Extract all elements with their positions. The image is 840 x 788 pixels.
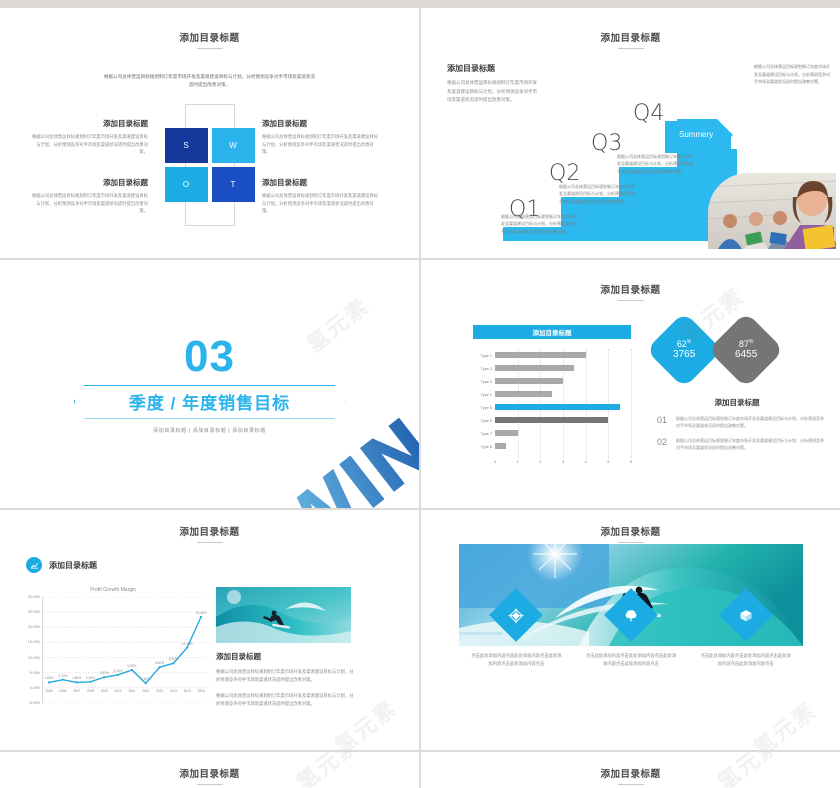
stat-badge-inner: 62% 3765 <box>673 339 695 361</box>
line-chart-point <box>186 646 188 648</box>
stat-percent-value: 62 <box>677 339 687 349</box>
step-note-q1: 根据公司总体营运目标规划制订年度市场开发及渠道建设目标与计划，分析预测竞争对手市… <box>501 213 579 235</box>
line-chart-body: Profit Growth Margin -5.00%0.00%5.00%10.… <box>0 581 419 741</box>
cube-icon-glyph <box>738 608 753 623</box>
line-chart-data-label: 23.40% <box>196 611 207 615</box>
line-chart-x-tick: 2007 <box>73 689 80 693</box>
bar-chart-body: 添加目录标题 Type 1Type 2Type 3Type 4Type 5Typ… <box>421 301 840 501</box>
slide-photo-icons[interactable]: 添加目录标题 <box>421 510 840 750</box>
page-title: 添加目录标题 <box>0 752 419 780</box>
line-chart-data-label: 4.30% <box>114 669 123 673</box>
swot-cell-w[interactable]: W <box>212 128 255 163</box>
line-chart-point <box>89 681 91 683</box>
cube-icon <box>738 608 753 623</box>
bar-track <box>495 362 631 375</box>
line-chart-y-tick: 10.00% <box>28 656 40 660</box>
surfing-photo-graphic <box>216 587 351 643</box>
top-gutter <box>0 0 840 8</box>
line-chart-header: 添加目录标题 <box>26 557 419 573</box>
swot-heading: 添加目录标题 <box>28 118 148 129</box>
intro-paragraph: 根据公司总体营运目标规划制订年度市场开发及渠道建设目标与计划，分析预测竞争对手市… <box>102 73 317 90</box>
bar-label: Type 3 <box>473 380 495 384</box>
bar-label: Type 5 <box>473 406 495 410</box>
bar-fill <box>495 443 506 449</box>
bar-track <box>495 388 631 401</box>
caption-paragraph-2: 根据公司总体营运目标规划制订年度市场开发及渠道建设目标与计划，分析预测竞争对手市… <box>216 692 356 709</box>
feature-texts: 点击此处添加内容点击此处添加内容点击此处添加内容点击此处添加内容点击 点击此处添… <box>459 652 803 669</box>
swot-text-top-left: 添加目录标题 根据公司总体营运目标规划制订年度市场开发及渠道建设目标与计划，分析… <box>28 118 148 156</box>
list-item: 02 根据公司总体营运目标规划制订年度市场开发及渠道建设目标与计划，分析预测竞争… <box>657 437 825 452</box>
section-ribbon: 季度 / 年度销售目标 <box>74 385 346 419</box>
line-chart-data-label: 5.90% <box>127 664 136 668</box>
line-chart-data-label: 2.00% <box>86 676 95 680</box>
bar-row: Type 1 <box>473 349 631 362</box>
left-body: 根据公司总体营运目标规划制订年度市场开发及渠道建设目标与计划，分析预测竞争对手市… <box>447 79 539 105</box>
slide-section-divider[interactable]: 03 季度 / 年度销售目标 添加目录标题 | 添加目录标题 | 添加目录标题 … <box>0 260 419 508</box>
surfing-photo-small <box>216 587 351 643</box>
line-chart-x-tick: 2012 <box>142 689 149 693</box>
slide-line-chart[interactable]: 添加目录标题 添加目录标题 Profit Growth Margin -5.00… <box>0 510 419 750</box>
stat-badge-blue[interactable]: 62% 3765 <box>646 312 722 388</box>
list-item: 01 根据公司总体营运目标规划制订年度市场开发及渠道建设目标与计划，分析预测竞争… <box>657 415 825 430</box>
chart-banner: 添加目录标题 <box>473 325 631 339</box>
swot-text-bottom-right: 添加目录标题 根据公司总体营运目标规划制订年度市场开发及渠道建设目标与计划，分析… <box>262 177 382 215</box>
line-chart-y-tick: 0.00% <box>30 686 40 690</box>
line-chart-x-tick: 2005 <box>45 689 52 693</box>
bar-row: Type 5 <box>473 401 631 414</box>
bar-track <box>495 349 631 362</box>
line-chart-y-tick: 20.00% <box>28 625 40 629</box>
bar-chart-x-axis: 0123456 <box>495 460 631 470</box>
step-label-q4: Q4 <box>633 101 664 126</box>
percent-sign: % <box>749 339 753 345</box>
step-note-q3: 根据公司总体营运目标规划制订年度市场开发及渠道建设目标与计划，分析预测竞争对手市… <box>617 153 695 175</box>
bar-chart: Type 1Type 2Type 3Type 4Type 5Type 6Type… <box>473 349 631 469</box>
swot-cell-s[interactable]: S <box>165 128 208 163</box>
line-chart-x-tick: 2013 <box>156 689 163 693</box>
compass-icon <box>509 608 524 623</box>
stat-percent: 62% <box>673 339 695 349</box>
stat-value: 3765 <box>673 349 695 361</box>
stat-percent-value: 87 <box>739 339 749 349</box>
line-chart-data-label: 6.80% <box>155 661 164 665</box>
line-chart-point <box>158 666 160 668</box>
staircase-body: 添加目录标题 根据公司总体营运目标规划制订年度市场开发及渠道建设目标与计划，分析… <box>421 49 840 249</box>
bar-chart-rows: Type 1Type 2Type 3Type 4Type 5Type 6Type… <box>473 349 631 453</box>
subitem-2: 添加目录标题 <box>193 428 227 434</box>
line-chart-data-label: 13.30% <box>182 642 193 646</box>
bar-label: Type 6 <box>473 419 495 423</box>
stat-badge-inner: 87% 6455 <box>735 339 757 361</box>
line-chart-x-tick: 2011 <box>128 689 135 693</box>
line-chart-point <box>76 681 78 683</box>
line-chart-svg <box>43 597 209 703</box>
stats-sub-heading: 添加目录标题 <box>657 397 817 408</box>
line-chart-x-tick: 2006 <box>59 689 66 693</box>
bar-x-tick: 0 <box>494 460 496 464</box>
bar-fill <box>495 404 620 410</box>
bar-track <box>495 375 631 388</box>
section-number: 03 <box>184 335 235 379</box>
list-item-body: 根据公司总体营运目标规划制订年度市场开发及渠道建设目标与计划，分析预测竞争对手市… <box>676 437 825 452</box>
title-rule <box>197 784 223 785</box>
title-rule <box>618 542 644 543</box>
feature-icon-cube[interactable] <box>719 588 773 642</box>
swot-body-text: 根据公司总体营运目标规划制订年度市场开发及渠道建设目标与计划，分析预测竞争对手市… <box>262 133 382 156</box>
swot-heading: 添加目录标题 <box>28 177 148 188</box>
feature-text-1: 点击此处添加内容点击此处添加内容点击此处添加内容点击此处添加内容点击 <box>459 652 574 669</box>
bar-track <box>495 401 631 414</box>
bar-track <box>495 440 631 453</box>
swot-body-text: 根据公司总体营运目标规划制订年度市场开发及渠道建设目标与计划，分析预测竞争对手市… <box>28 133 148 156</box>
swot-cell-t[interactable]: T <box>212 167 255 202</box>
line-chart-y-tick: 15.00% <box>28 640 40 644</box>
line-chart-point <box>172 662 174 664</box>
bar-row: Type 8 <box>473 440 631 453</box>
bar-x-tick: 2 <box>539 460 541 464</box>
subitem-3: 添加目录标题 <box>232 428 266 434</box>
bar-row: Type 2 <box>473 362 631 375</box>
slide-swot[interactable]: 添加目录标题 根据公司总体营运目标规划制订年度市场开发及渠道建设目标与计划，分析… <box>0 8 419 258</box>
slide-partial-right[interactable]: 添加目录标题 氢元素 <box>421 752 840 788</box>
list-item-number: 02 <box>657 437 670 452</box>
watermark: 氢元素 <box>746 693 822 750</box>
percent-sign: % <box>687 339 691 345</box>
slide-staircase[interactable]: 添加目录标题 <box>421 8 840 258</box>
line-chart-x-tick: 2008 <box>87 689 94 693</box>
page-title: 添加目录标题 <box>421 260 840 296</box>
swot-body-text: 根据公司总体营运目标规划制订年度市场开发及渠道建设目标与计划，分析预测竞争对手市… <box>262 192 382 215</box>
page-title: 添加目录标题 <box>0 510 419 538</box>
title-rule <box>618 784 644 785</box>
line-chart-point <box>117 674 119 676</box>
page-title: 添加目录标题 <box>421 752 840 780</box>
slide-deck-grid: 添加目录标题 根据公司总体营运目标规划制订年度市场开发及渠道建设目标与计划，分析… <box>0 0 840 788</box>
line-chart-heading: 添加目录标题 <box>49 560 97 571</box>
line-chart-y-tick: -5.00% <box>29 701 40 705</box>
bar-label: Type 2 <box>473 367 495 371</box>
line-chart-x-tick: 2015 <box>184 689 191 693</box>
page-title: 添加目录标题 <box>421 8 840 44</box>
bar-row: Type 3 <box>473 375 631 388</box>
line-chart-data-label: 1.50% <box>141 677 150 681</box>
swot-heading: 添加目录标题 <box>262 177 382 188</box>
feature-icon-tree[interactable] <box>604 588 658 642</box>
trend-chart-icon <box>30 561 39 570</box>
bar-fill <box>495 391 552 397</box>
caption-heading: 添加目录标题 <box>216 651 356 662</box>
swot-body-text: 根据公司总体营运目标规划制订年度市场开发及渠道建设目标与计划，分析预测竞争对手市… <box>28 192 148 215</box>
line-chart-y-tick: 25.00% <box>28 610 40 614</box>
bar-label: Type 1 <box>473 354 495 358</box>
page-title: 添加目录标题 <box>421 510 840 538</box>
line-chart-x-tick: 2009 <box>101 689 108 693</box>
bar-row: Type 6 <box>473 414 631 427</box>
line-chart-data-label: 8.10% <box>169 657 178 661</box>
line-chart-point <box>131 669 133 671</box>
students-photo-graphic <box>708 173 836 249</box>
line-chart-point <box>48 681 50 683</box>
line-chart-point <box>103 676 105 678</box>
line-chart-caption: 添加目录标题 根据公司总体营运目标规划制订年度市场开发及渠道建设目标与计划，分析… <box>216 651 356 716</box>
line-chart-data-label: 1.80% <box>72 676 81 680</box>
bar-row: Type 4 <box>473 388 631 401</box>
line-chart-y-tick: 5.00% <box>30 671 40 675</box>
bar-label: Type 8 <box>473 445 495 449</box>
line-chart-x-tick: 2010 <box>115 689 122 693</box>
swot-matrix: S W O T <box>165 128 255 202</box>
swot-body: S W O T 添加目录标题 根据公司总体营运目标规划制订年度市场开发及渠道建设… <box>0 104 419 244</box>
bar-label: Type 7 <box>473 432 495 436</box>
swot-text-bottom-left: 添加目录标题 根据公司总体营运目标规划制订年度市场开发及渠道建设目标与计划，分析… <box>28 177 148 215</box>
feature-text-2: 点击此处添加内容点击此处添加内容点击此处添加内容点击此处添加内容点击 <box>574 652 689 669</box>
left-heading: 添加目录标题 <box>447 63 539 74</box>
bar-x-tick: 1 <box>517 460 519 464</box>
line-chart-point <box>145 682 147 684</box>
stat-value: 6455 <box>735 349 757 361</box>
bar-fill <box>495 417 608 423</box>
section-heading: 季度 / 年度销售目标 <box>129 389 290 414</box>
feature-text-3: 点击此处添加内容点击此处添加内容点击此处添加内容点击此处添加内容点击 <box>688 652 803 669</box>
bar-fill <box>495 378 563 384</box>
bar-track <box>495 427 631 440</box>
line-chart-x-tick: 2016 <box>197 689 204 693</box>
subitem-1: 添加目录标题 <box>153 428 187 434</box>
line-chart-y-tick: 30.00% <box>28 595 40 599</box>
swot-heading: 添加目录标题 <box>262 118 382 129</box>
bar-x-tick: 5 <box>607 460 609 464</box>
line-chart-point <box>200 616 202 618</box>
section-subitems: 添加目录标题 | 添加目录标题 | 添加目录标题 <box>153 427 266 434</box>
bar-label: Type 4 <box>473 393 495 397</box>
bar-fill <box>495 352 586 358</box>
bar-x-tick: 6 <box>630 460 632 464</box>
bar-gridline <box>631 349 632 459</box>
list-item-body: 根据公司总体营运目标规划制订年度市场开发及渠道建设目标与计划，分析预测竞争对手市… <box>676 415 825 430</box>
line-chart-title: Profit Growth Margin <box>18 587 208 593</box>
staircase-left-text: 添加目录标题 根据公司总体营运目标规划制订年度市场开发及渠道建设目标与计划，分析… <box>447 63 539 105</box>
feature-icons <box>459 596 803 634</box>
tree-icon <box>623 608 638 623</box>
line-chart-data-label: 1.80% <box>44 676 53 680</box>
numbered-list: 01 根据公司总体营运目标规划制订年度市场开发及渠道建设目标与计划，分析预测竞争… <box>657 415 825 459</box>
bar-x-tick: 4 <box>585 460 587 464</box>
line-chart-plot: -5.00%0.00%5.00%10.00%15.00%20.00%25.00%… <box>42 597 208 703</box>
stat-badges: 62% 3765 87% 6455 <box>657 323 773 377</box>
staircase-right-text: 根据公司总体营运目标规划制订年度市场开发及渠道建设目标与计划，分析预测竞争对手市… <box>754 63 830 86</box>
swot-cell-o[interactable]: O <box>165 167 208 202</box>
title-rule <box>197 542 223 543</box>
title-rule <box>197 48 223 49</box>
page-title: 添加目录标题 <box>0 8 419 44</box>
list-item-number: 01 <box>657 415 670 430</box>
chart-badge-icon <box>26 557 42 573</box>
tree-icon-glyph <box>623 608 638 623</box>
stat-percent: 87% <box>735 339 757 349</box>
caption-paragraph-1: 根据公司总体营运目标规划制订年度市场开发及渠道建设目标与计划，分析预测竞争对手市… <box>216 668 356 685</box>
slide-partial-left[interactable]: 添加目录标题 氢元素 <box>0 752 419 788</box>
line-chart-data-label: 2.70% <box>58 674 67 678</box>
line-chart: Profit Growth Margin -5.00%0.00%5.00%10.… <box>18 587 208 713</box>
line-chart-data-label: 3.50% <box>100 671 109 675</box>
feature-icon-compass[interactable] <box>489 588 543 642</box>
line-chart-x-tick: 2014 <box>170 689 177 693</box>
summary-arrow-label: Summery <box>679 130 713 139</box>
step-note-q2: 根据公司总体营运目标规划制订年度市场开发及渠道建设目标与计划，分析预测竞争对手市… <box>559 183 637 205</box>
line-chart-point <box>62 679 64 681</box>
subitem-separator: | <box>189 428 191 434</box>
stat-badge-gray[interactable]: 87% 6455 <box>708 312 784 388</box>
students-photo <box>708 173 836 249</box>
swot-text-top-right: 添加目录标题 根据公司总体营运目标规划制订年度市场开发及渠道建设目标与计划，分析… <box>262 118 382 156</box>
bar-x-tick: 3 <box>562 460 564 464</box>
compass-icon-glyph <box>509 608 524 623</box>
subitem-separator: | <box>228 428 230 434</box>
bar-row: Type 7 <box>473 427 631 440</box>
slide-bar-chart[interactable]: 添加目录标题 添加目录标题 Type 1Type 2Type 3Type 4Ty… <box>421 260 840 508</box>
bar-fill <box>495 430 518 436</box>
bar-track <box>495 414 631 427</box>
bar-fill <box>495 365 574 371</box>
